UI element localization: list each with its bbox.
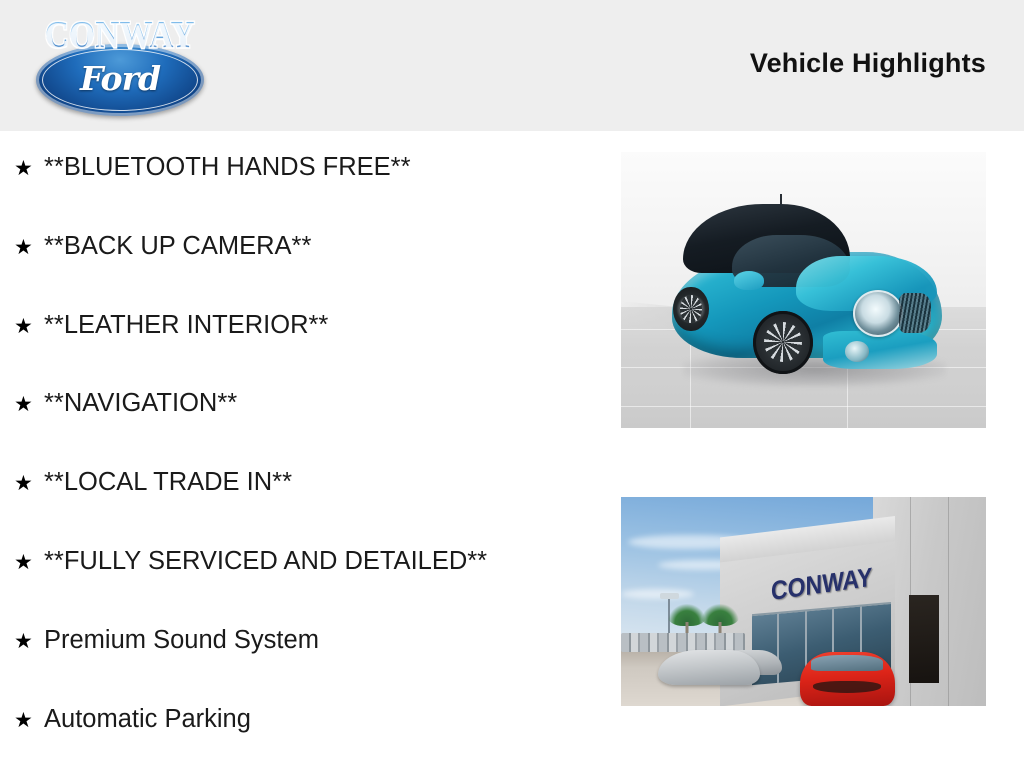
front-grille xyxy=(899,293,931,332)
silver-sedan xyxy=(658,650,760,686)
list-item: ★ **BLUETOOTH HANDS FREE** xyxy=(0,153,610,232)
list-item: ★ **FULLY SERVICED AND DETAILED** xyxy=(0,547,610,626)
highlight-label: **FULLY SERVICED AND DETAILED** xyxy=(44,547,487,576)
list-item: ★ Automatic Parking xyxy=(0,705,610,783)
red-ford-focus xyxy=(800,652,895,706)
star-bullet-icon: ★ xyxy=(14,394,44,415)
highlight-label: **BACK UP CAMERA** xyxy=(44,232,311,261)
highlight-label: **LOCAL TRADE IN** xyxy=(44,468,292,497)
headlight xyxy=(853,290,903,337)
inventory-car-row xyxy=(621,633,745,652)
star-bullet-icon: ★ xyxy=(14,316,44,337)
star-bullet-icon: ★ xyxy=(14,158,44,179)
highlight-label: Premium Sound System xyxy=(44,626,319,655)
front-wheel xyxy=(753,311,812,374)
conway-wordmark: CONWAY xyxy=(23,10,216,69)
list-item: ★ **LOCAL TRADE IN** xyxy=(0,468,610,547)
front-grille xyxy=(813,681,881,693)
vehicle-highlights-list: ★ **BLUETOOTH HANDS FREE** ★ **BACK UP C… xyxy=(0,131,610,783)
vehicle-photo[interactable] xyxy=(621,152,986,428)
highlight-label: **LEATHER INTERIOR** xyxy=(44,311,328,340)
wheel-spokes xyxy=(764,322,802,363)
star-bullet-icon: ★ xyxy=(14,710,44,731)
page-header: Ford CONWAY CONWAY Vehicle Highlights xyxy=(0,0,1024,131)
list-item: ★ Premium Sound System xyxy=(0,626,610,705)
star-bullet-icon: ★ xyxy=(14,473,44,494)
star-bullet-icon: ★ xyxy=(14,631,44,652)
fog-light xyxy=(845,341,869,362)
mini-cooper-illustration xyxy=(672,204,942,375)
windshield xyxy=(811,655,883,671)
list-item: ★ **NAVIGATION** xyxy=(0,389,610,468)
star-bullet-icon: ★ xyxy=(14,237,44,258)
highlight-label: Automatic Parking xyxy=(44,705,251,734)
highlight-label: **BLUETOOTH HANDS FREE** xyxy=(44,153,411,182)
dealership-photo[interactable]: CONWAY xyxy=(621,497,986,706)
side-mirror xyxy=(734,271,764,290)
panel-seam xyxy=(948,497,949,706)
wheel-spokes xyxy=(680,295,702,323)
floor-seam xyxy=(621,406,986,407)
rear-wheel xyxy=(673,287,708,331)
highlight-label: **NAVIGATION** xyxy=(44,389,237,418)
star-bullet-icon: ★ xyxy=(14,552,44,573)
page-title: Vehicle Highlights xyxy=(750,48,986,79)
list-item: ★ **LEATHER INTERIOR** xyxy=(0,311,610,390)
conway-ford-logo[interactable]: Ford CONWAY CONWAY xyxy=(24,14,216,118)
list-item: ★ **BACK UP CAMERA** xyxy=(0,232,610,311)
entry-door xyxy=(909,595,938,683)
